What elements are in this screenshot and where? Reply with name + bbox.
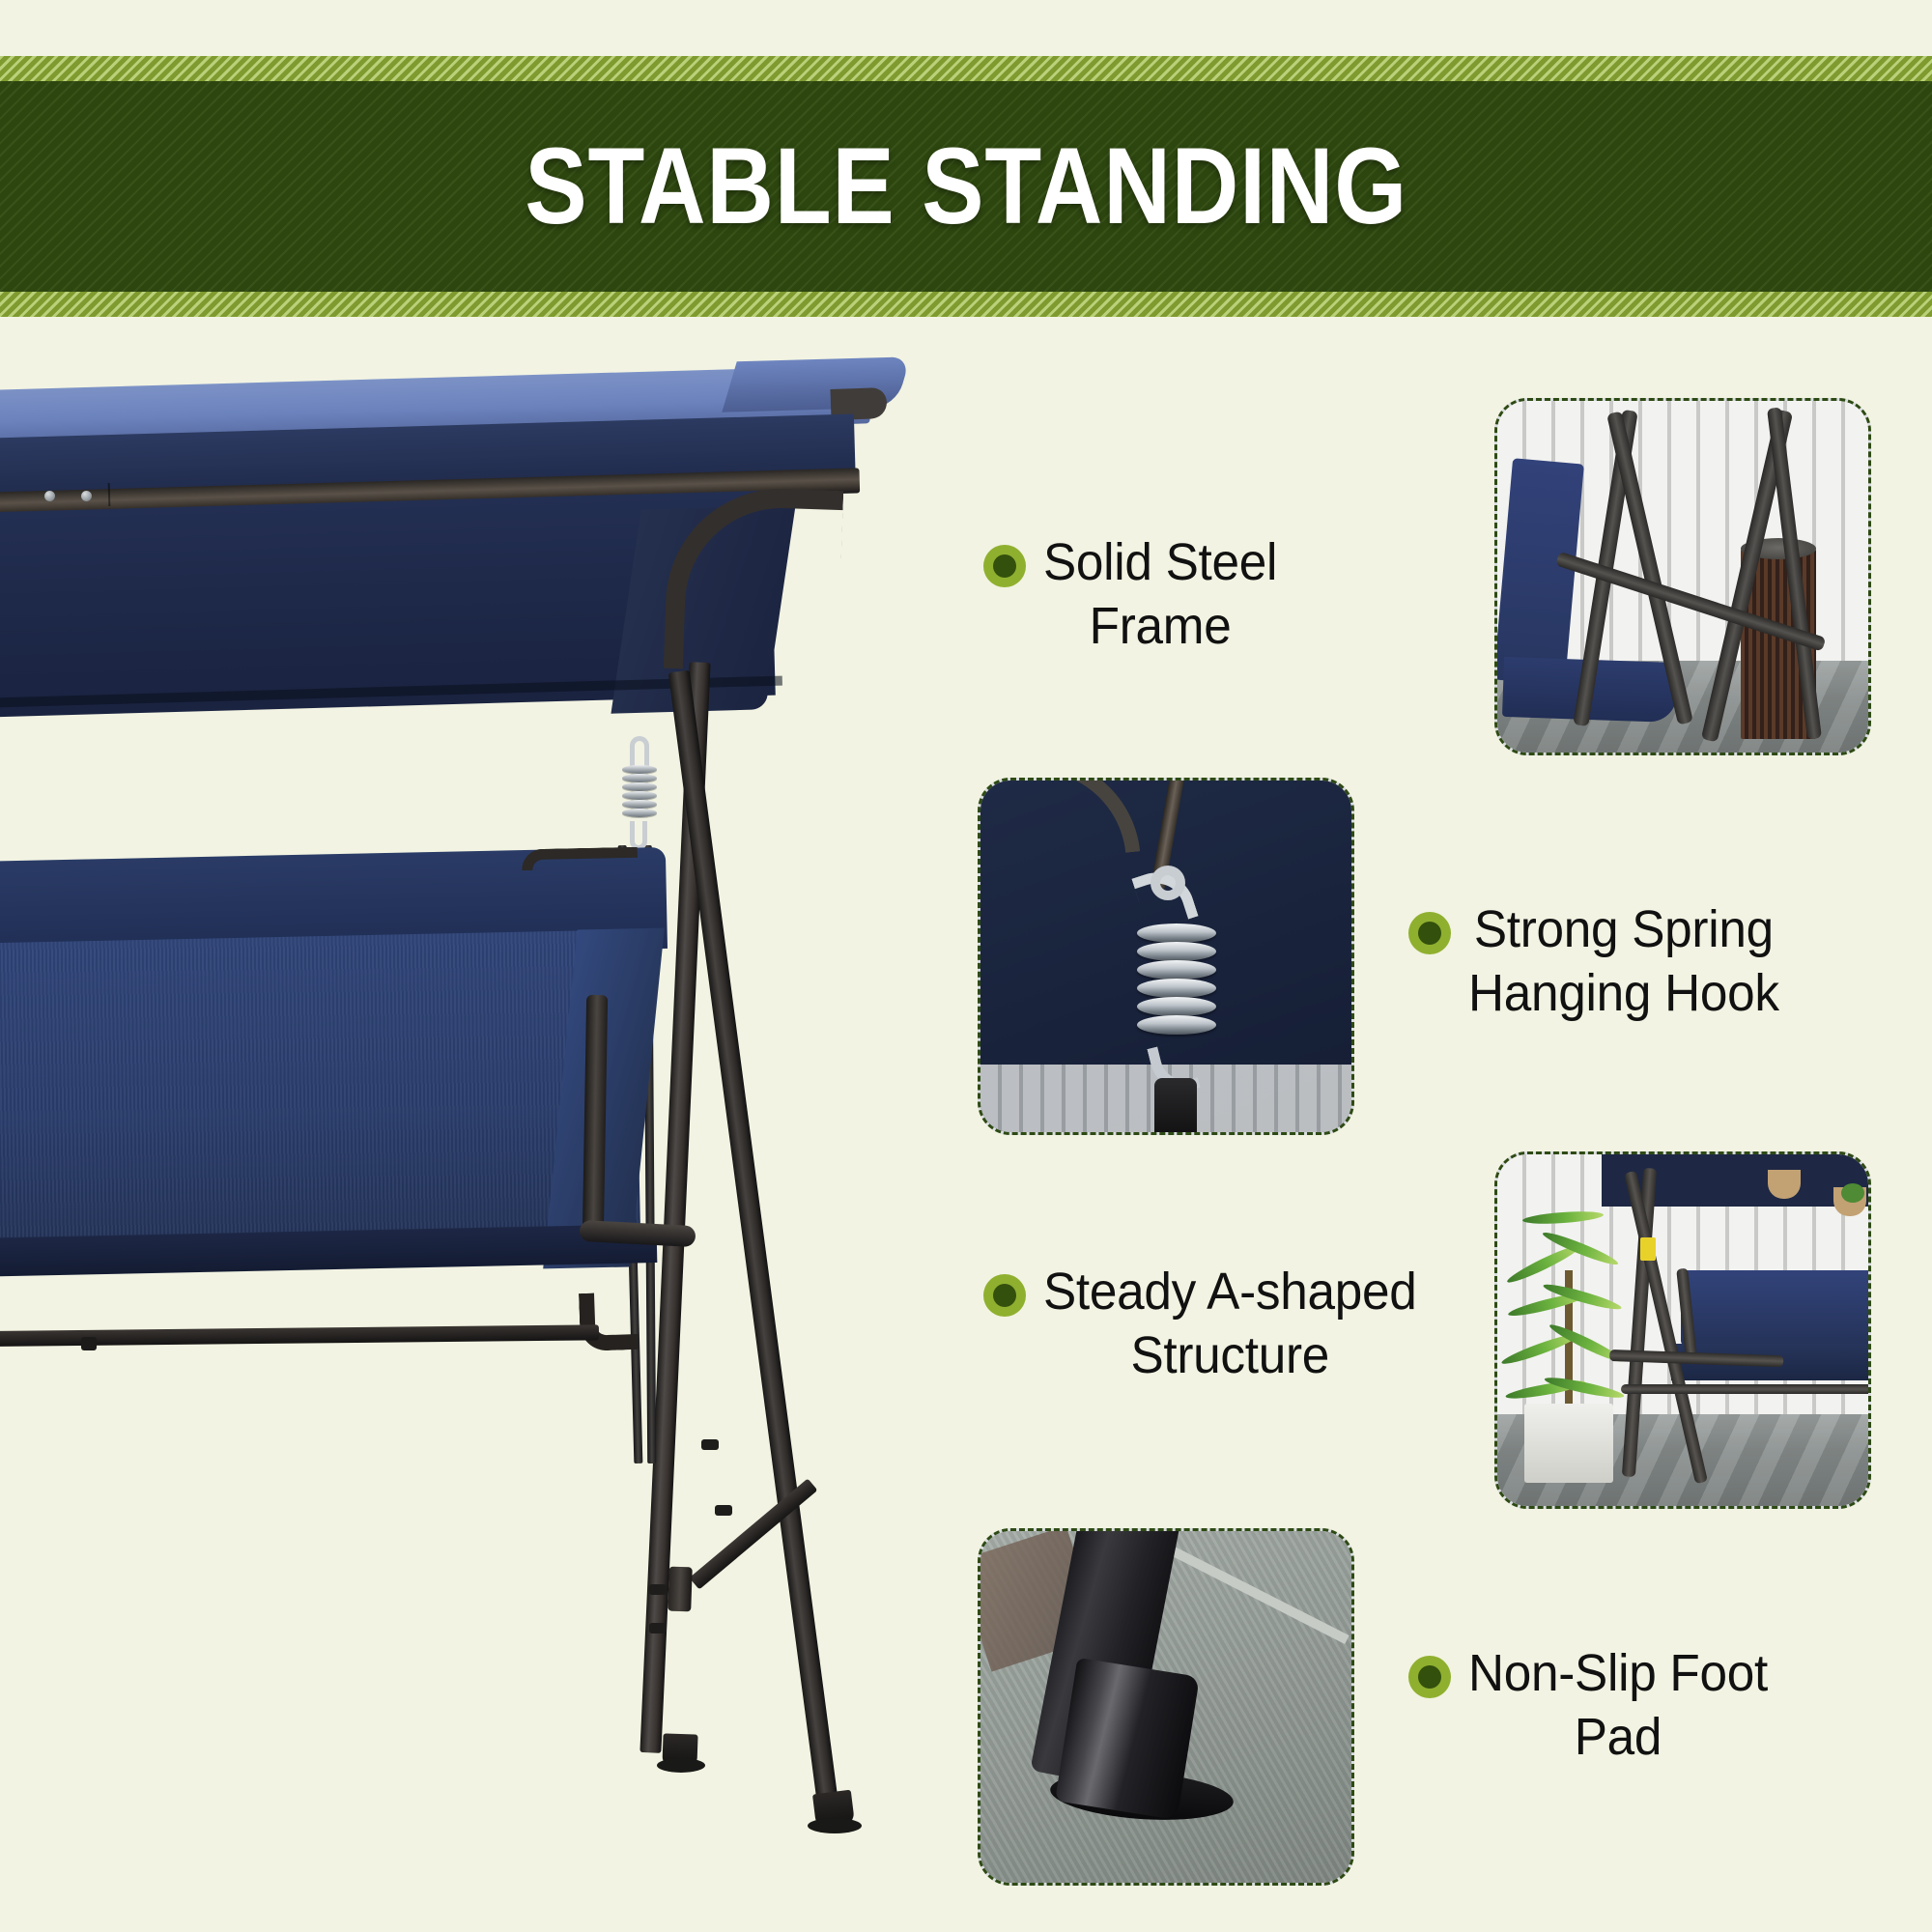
frame-brace-nub — [649, 1584, 667, 1595]
feature-non-slip-foot-pad: Non-Slip Foot Pad — [1408, 1642, 1920, 1770]
banner-stripe-bottom — [0, 292, 1932, 317]
banner-stripe-top — [0, 56, 1932, 81]
seat-back-rail — [522, 847, 638, 871]
frame-brace-nub — [649, 1623, 667, 1634]
bullet-dot-icon — [983, 545, 1026, 587]
spring-hook-icon — [609, 736, 667, 862]
seat-rail-nub — [81, 1337, 97, 1350]
frame-brace-nub — [715, 1505, 732, 1516]
frame-cross-bar — [1621, 1384, 1871, 1394]
page-title: STABLE STANDING — [525, 132, 1407, 241]
hook-clip — [1154, 1078, 1197, 1135]
foot-pad-cap — [1055, 1658, 1200, 1820]
detail-photo-a-shaped-structure — [1494, 1151, 1871, 1509]
header-banner: STABLE STANDING — [0, 56, 1932, 317]
warning-sticker — [1640, 1237, 1656, 1261]
spring-coil-icon — [1137, 923, 1216, 1049]
detail-photo-solid-steel-frame — [1494, 398, 1871, 755]
front-leg-foot-pad — [657, 1758, 705, 1773]
bullet-dot-icon — [983, 1274, 1026, 1317]
hanging-basket — [1768, 1170, 1801, 1199]
frame-brace-clip — [668, 1567, 693, 1612]
rear-leg-foot-pad — [808, 1818, 862, 1833]
feature-steady-a-shaped-structure: Steady A-shaped Structure — [983, 1261, 1505, 1388]
bullet-dot-icon — [1408, 1656, 1451, 1698]
hook-ring-icon — [1151, 866, 1185, 900]
swing-seat-back — [1681, 1270, 1871, 1346]
seat-mesh-fabric — [0, 929, 640, 1263]
frame-rear-leg — [668, 670, 840, 1823]
frame-brace-nub — [701, 1439, 719, 1450]
detail-photo-non-slip-foot-pad — [978, 1528, 1354, 1886]
bullet-dot-icon — [1408, 912, 1451, 954]
seat-bottom-elbow — [579, 1292, 639, 1351]
feature-label: Solid Steel Frame — [1043, 531, 1277, 659]
white-planter — [1524, 1404, 1613, 1483]
hero-product-image — [0, 319, 966, 1932]
feature-label: Non-Slip Foot Pad — [1468, 1642, 1768, 1770]
detail-photo-spring-hook — [978, 778, 1354, 1135]
seat-armrest — [582, 995, 608, 1236]
feature-strong-spring-hanging-hook: Strong Spring Hanging Hook — [1408, 898, 1930, 1026]
basket-plant — [1841, 1183, 1864, 1203]
feature-label: Strong Spring Hanging Hook — [1468, 898, 1779, 1026]
feature-label: Steady A-shaped Structure — [1043, 1261, 1416, 1388]
feature-solid-steel-frame: Solid Steel Frame — [983, 531, 1486, 659]
